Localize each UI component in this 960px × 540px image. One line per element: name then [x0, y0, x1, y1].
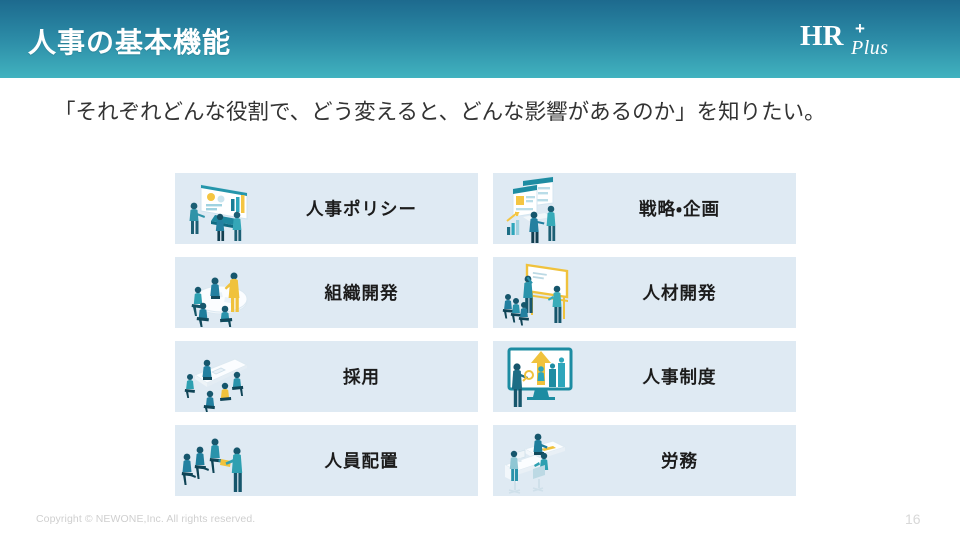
- card-strategy-planning[interactable]: 戦略・企画: [493, 173, 796, 244]
- card-hr-policy[interactable]: 人事ポリシー: [175, 173, 478, 244]
- hr-function-card-grid: 人事ポリシー: [175, 173, 796, 496]
- slide-subtitle: 「それぞれどんな役割で、どう変えると、どんな影響があるのか」を知りたい。: [40, 98, 928, 128]
- logo-wordmark-text: Plus: [851, 38, 889, 58]
- footer-copyright: Copyright © NEWONE,Inc. All rights reser…: [36, 513, 255, 525]
- card-staffing-allocation[interactable]: 人員配置: [175, 425, 478, 496]
- strategy-boards-planning-icon: [493, 173, 589, 244]
- slide-header: 人事の基本機能 HR + Plus: [0, 0, 960, 78]
- dashboard-monitor-presentation-icon: [175, 173, 271, 244]
- office-desks-icon: [493, 425, 589, 496]
- footer-page-number: 16: [905, 511, 921, 527]
- logo-plus-superscript-icon: +: [855, 20, 865, 37]
- monitor-growth-arrow-icon: [493, 341, 589, 412]
- card-label: 人員配置: [271, 448, 478, 473]
- card-label: 組織開発: [271, 280, 478, 305]
- interview-table-icon: [175, 341, 271, 412]
- card-label: 労務: [589, 448, 796, 473]
- card-label: 人材開発: [589, 280, 796, 305]
- card-labor-management[interactable]: 労務: [493, 425, 796, 496]
- card-label: 人事制度: [589, 364, 796, 389]
- logo-mark-text: HR: [800, 22, 844, 51]
- card-label: 戦略・企画: [589, 196, 796, 221]
- whiteboard-training-icon: [493, 257, 589, 328]
- card-talent-development[interactable]: 人材開発: [493, 257, 796, 328]
- staffing-handover-icon: [175, 425, 271, 496]
- card-hr-system[interactable]: 人事制度: [493, 341, 796, 412]
- page-title: 人事の基本機能: [28, 21, 231, 61]
- card-recruitment[interactable]: 採用: [175, 341, 478, 412]
- hr-plus-logo: HR + Plus: [800, 22, 912, 66]
- card-label: 人事ポリシー: [271, 196, 478, 221]
- card-organization-development[interactable]: 組織開発: [175, 257, 478, 328]
- card-label: 採用: [271, 364, 478, 389]
- round-table-meeting-icon: [175, 257, 271, 328]
